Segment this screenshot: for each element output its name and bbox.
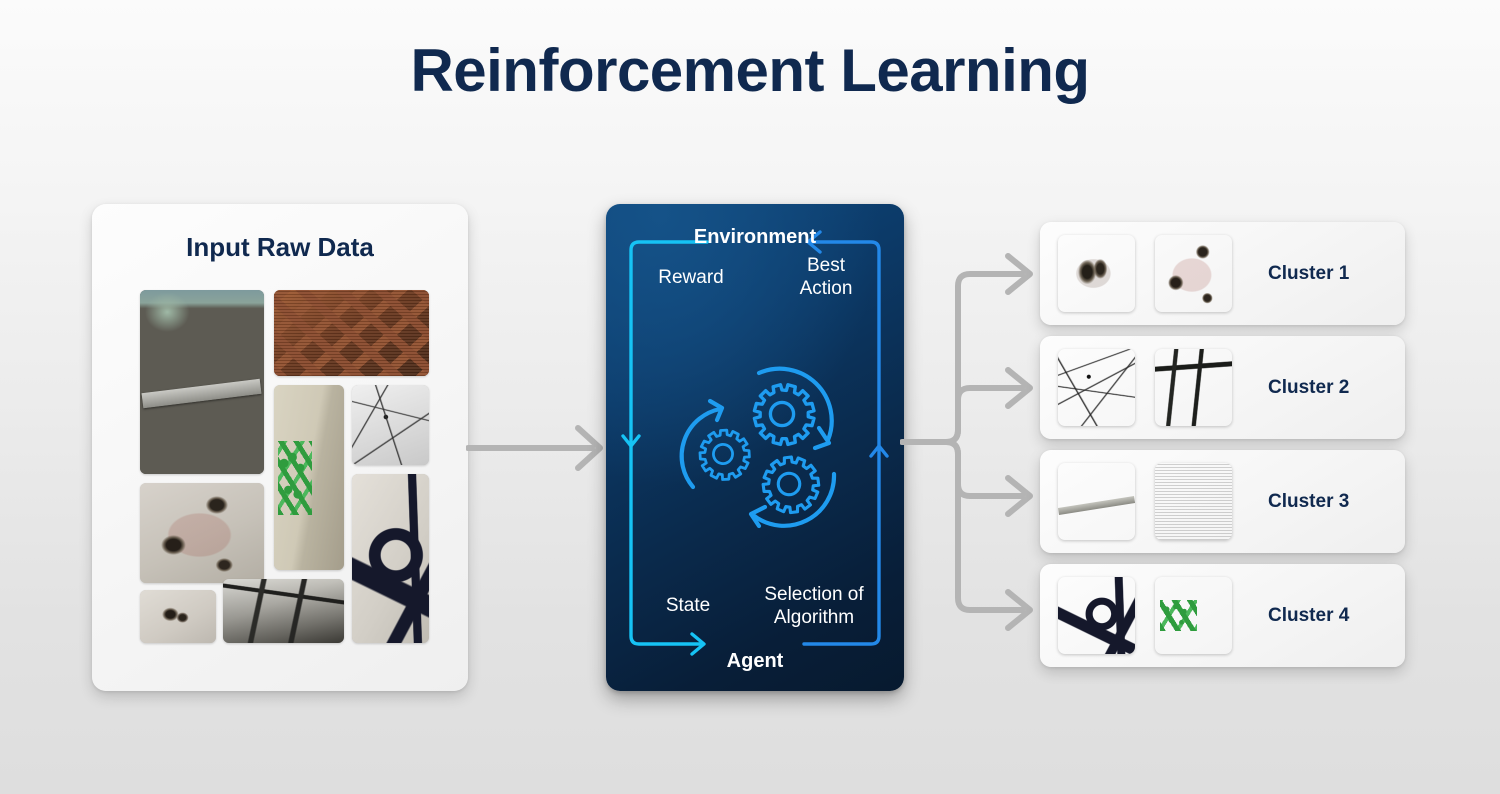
- rl-best-action-label: Best Action: [770, 254, 882, 300]
- cluster-label: Cluster 1: [1268, 222, 1349, 325]
- rl-selection-of-algorithm-label: Selection of Algorithm: [738, 583, 890, 629]
- branching-arrows-icon: [900, 238, 1050, 644]
- rl-environment-label: Environment: [606, 225, 904, 249]
- cluster-card[interactable]: Cluster 2: [1040, 336, 1405, 439]
- rl-best-action-line1: Best: [770, 254, 882, 277]
- input-image-grid: [140, 290, 429, 643]
- page-title: Reinforcement Learning: [0, 38, 1500, 104]
- input-panel-title: Input Raw Data: [92, 232, 468, 263]
- rl-best-action-line2: Action: [770, 277, 882, 300]
- input-raw-data-panel: Input Raw Data: [92, 204, 468, 691]
- cluster-thumb: [1155, 349, 1232, 426]
- cluster-card[interactable]: Cluster 1: [1040, 222, 1405, 325]
- cluster-thumb: [1155, 577, 1232, 654]
- cluster-card[interactable]: Cluster 4: [1040, 564, 1405, 667]
- cluster-card[interactable]: Cluster 3: [1040, 450, 1405, 553]
- gears-cycle-icon: [666, 362, 861, 542]
- input-thumb-concrete-spalling-bridge-support: [140, 290, 264, 474]
- input-thumb-dark-graffiti-tag: [352, 474, 429, 643]
- cluster-thumb: [1058, 235, 1135, 312]
- rl-agent-label: Agent: [606, 649, 904, 673]
- rl-selection-line1: Selection of: [738, 583, 890, 606]
- cluster-thumb: [1058, 349, 1135, 426]
- rl-reward-label: Reward: [636, 266, 746, 289]
- cluster-thumb: [1155, 463, 1232, 540]
- input-thumb-concrete-spalling-holes: [140, 483, 264, 583]
- rl-selection-line2: Algorithm: [738, 606, 890, 629]
- input-thumb-concrete-pothole-small: [140, 590, 216, 643]
- cluster-label: Cluster 2: [1268, 336, 1349, 439]
- input-thumb-map-cracking-concrete: [352, 385, 429, 465]
- cluster-thumb: [1058, 577, 1135, 654]
- input-thumb-stained-beam-joint: [223, 579, 344, 643]
- cluster-label: Cluster 3: [1268, 450, 1349, 553]
- rl-state-label: State: [636, 594, 740, 617]
- reinforcement-learning-panel: Environment Agent Reward Best Action Sta…: [606, 204, 904, 691]
- cluster-label: Cluster 4: [1268, 564, 1349, 667]
- cluster-thumb: [1058, 463, 1135, 540]
- input-thumb-green-graffiti-wall: [274, 385, 344, 570]
- arrow-input-to-rl: [466, 410, 612, 486]
- input-thumb-rusted-steel-truss: [274, 290, 429, 376]
- cluster-thumb: [1155, 235, 1232, 312]
